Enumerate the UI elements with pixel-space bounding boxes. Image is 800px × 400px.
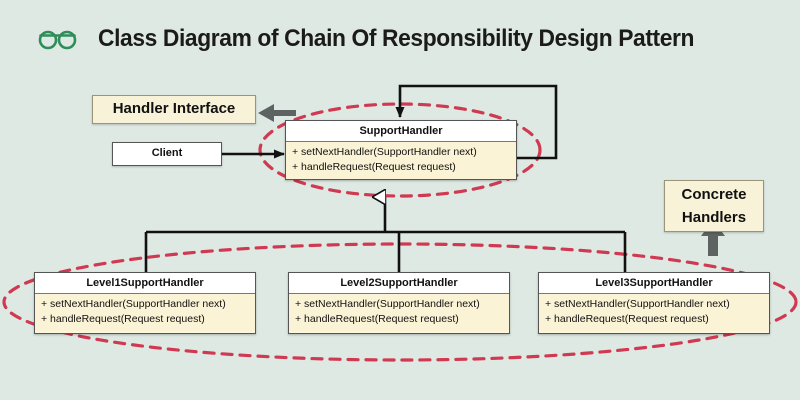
class-name-support-handler: SupportHandler: [286, 121, 516, 142]
annotation-concrete-handlers-line1: Concrete: [665, 183, 763, 206]
client-class-box[interactable]: Client: [112, 142, 222, 166]
class-methods-level2-support-handler: + setNextHandler(SupportHandler next) + …: [289, 294, 509, 331]
method-handle-request: + handleRequest(Request request): [545, 312, 763, 327]
method-set-next-handler: + setNextHandler(SupportHandler next): [295, 297, 503, 312]
method-set-next-handler: + setNextHandler(SupportHandler next): [545, 297, 763, 312]
class-box-level2-support-handler[interactable]: Level2SupportHandler + setNextHandler(Su…: [288, 272, 510, 334]
header: Class Diagram of Chain Of Responsibility…: [0, 0, 800, 76]
method-set-next-handler: + setNextHandler(SupportHandler next): [41, 297, 249, 312]
method-handle-request: + handleRequest(Request request): [292, 160, 510, 175]
annotation-handler-interface: Handler Interface: [92, 95, 256, 124]
page-title: Class Diagram of Chain Of Responsibility…: [98, 22, 725, 56]
class-methods-support-handler: + setNextHandler(SupportHandler next) + …: [286, 142, 516, 179]
class-box-level3-support-handler[interactable]: Level3SupportHandler + setNextHandler(Su…: [538, 272, 770, 334]
diagram-canvas: Class Diagram of Chain Of Responsibility…: [0, 0, 800, 400]
class-methods-level3-support-handler: + setNextHandler(SupportHandler next) + …: [539, 294, 769, 331]
class-box-support-handler[interactable]: SupportHandler + setNextHandler(SupportH…: [285, 120, 517, 180]
class-name-level2-support-handler: Level2SupportHandler: [289, 273, 509, 294]
method-handle-request: + handleRequest(Request request): [295, 312, 503, 327]
annotation-concrete-handlers-line2: Handlers: [665, 206, 763, 229]
geeksforgeeks-logo: [34, 24, 82, 54]
class-methods-level1-support-handler: + setNextHandler(SupportHandler next) + …: [35, 294, 255, 331]
annotation-concrete-handlers: Concrete Handlers: [664, 180, 764, 232]
method-set-next-handler: + setNextHandler(SupportHandler next): [292, 145, 510, 160]
class-name-level3-support-handler: Level3SupportHandler: [539, 273, 769, 294]
class-box-level1-support-handler[interactable]: Level1SupportHandler + setNextHandler(Su…: [34, 272, 256, 334]
method-handle-request: + handleRequest(Request request): [41, 312, 249, 327]
class-name-level1-support-handler: Level1SupportHandler: [35, 273, 255, 294]
